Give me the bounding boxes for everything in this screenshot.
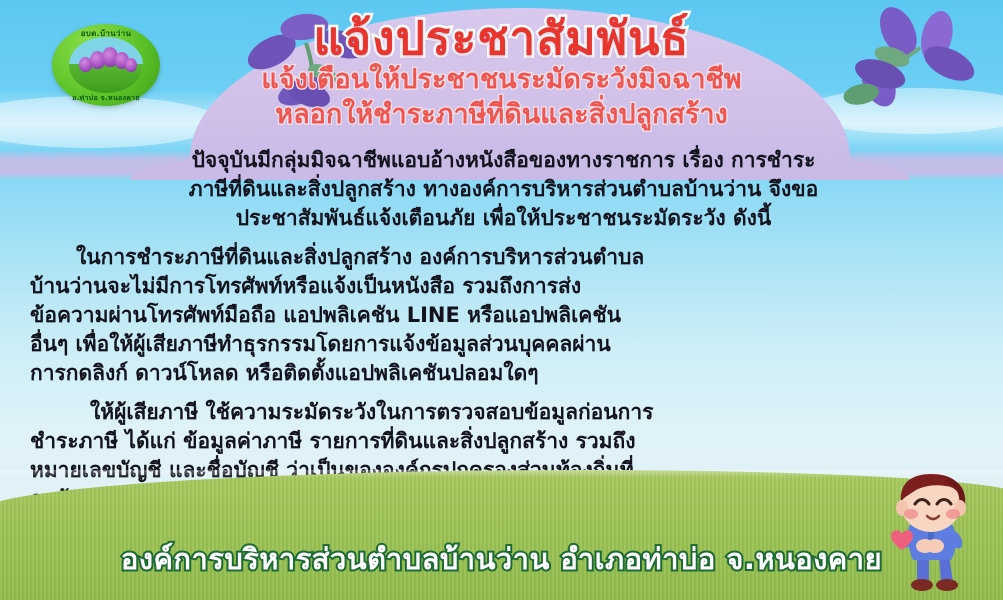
cloud-puff-right bbox=[803, 88, 1003, 134]
paragraph-1-line-3: ประชาสัมพันธ์แจ้งเตือนภัย เพื่อให้ประชาช… bbox=[30, 204, 977, 233]
paragraph-spacer bbox=[30, 388, 977, 398]
paragraph-2-line-5: การกดลิงก์ ดาวน์โหลด หรือติดตั้งแอปพลิเค… bbox=[30, 359, 977, 388]
purple-flower-left-icon bbox=[236, 6, 376, 126]
announcement-poster: อบต.บ้านว่าน อ.ท่าบ่อ จ.หนองคาย แจ้งป bbox=[0, 0, 1003, 600]
cartoon-boy-mascot-icon bbox=[865, 472, 997, 598]
paragraph-spacer bbox=[30, 233, 977, 243]
paragraph-1: ปัจจุบันมีกลุ่มมิจฉาชีพแอบอ้างหนังสือของ… bbox=[30, 146, 977, 233]
logo-text-bottom: อ.ท่าบ่อ จ.หนองคาย bbox=[52, 93, 160, 104]
paragraph-3-line-1: ให้ผู้เสียภาษี ใช้ความระมัดระวังในการตรว… bbox=[30, 398, 977, 427]
paragraph-1-line-1: ปัจจุบันมีกลุ่มมิจฉาชีพแอบอ้างหนังสือของ… bbox=[30, 146, 977, 175]
paragraph-2-line-1: ในการชำระภาษีที่ดินและสิ่งปลูกสร้าง องค์… bbox=[30, 243, 977, 272]
paragraph-2: ในการชำระภาษีที่ดินและสิ่งปลูกสร้าง องค์… bbox=[30, 243, 977, 388]
logo-text-top: อบต.บ้านว่าน bbox=[52, 27, 160, 40]
logo-emblem bbox=[69, 37, 143, 93]
logo-flower-icon bbox=[125, 58, 137, 72]
agency-logo: อบต.บ้านว่าน อ.ท่าบ่อ จ.หนองคาย bbox=[52, 24, 160, 106]
paragraph-2-line-2: บ้านว่านจะไม่มีการโทรศัพท์หรือแจ้งเป็นหน… bbox=[30, 272, 977, 301]
paragraph-2-line-3: ข้อความผ่านโทรศัพท์มือถือ แอปพลิเคชัน LI… bbox=[30, 301, 977, 330]
paragraph-3-line-2: ชำระภาษี ได้แก่ ข้อมูลค่าภาษี รายการที่ด… bbox=[30, 427, 977, 456]
grass-highlight bbox=[0, 470, 1003, 478]
paragraph-1-line-2: ภาษีที่ดินและสิ่งปลูกสร้าง ทางองค์การบริ… bbox=[30, 175, 977, 204]
footer-organization: องค์การบริหารส่วนตำบลบ้านว่าน อำเภอท่าบ่… bbox=[0, 536, 1003, 582]
purple-flower-right-icon bbox=[821, 2, 1001, 132]
body-content: ปัจจุบันมีกลุ่มมิจฉาชีพแอบอ้างหนังสือของ… bbox=[30, 146, 977, 514]
paragraph-2-line-4: อื่นๆ เพื่อให้ผู้เสียภาษีทำธุรกรรมโดยการ… bbox=[30, 330, 977, 359]
